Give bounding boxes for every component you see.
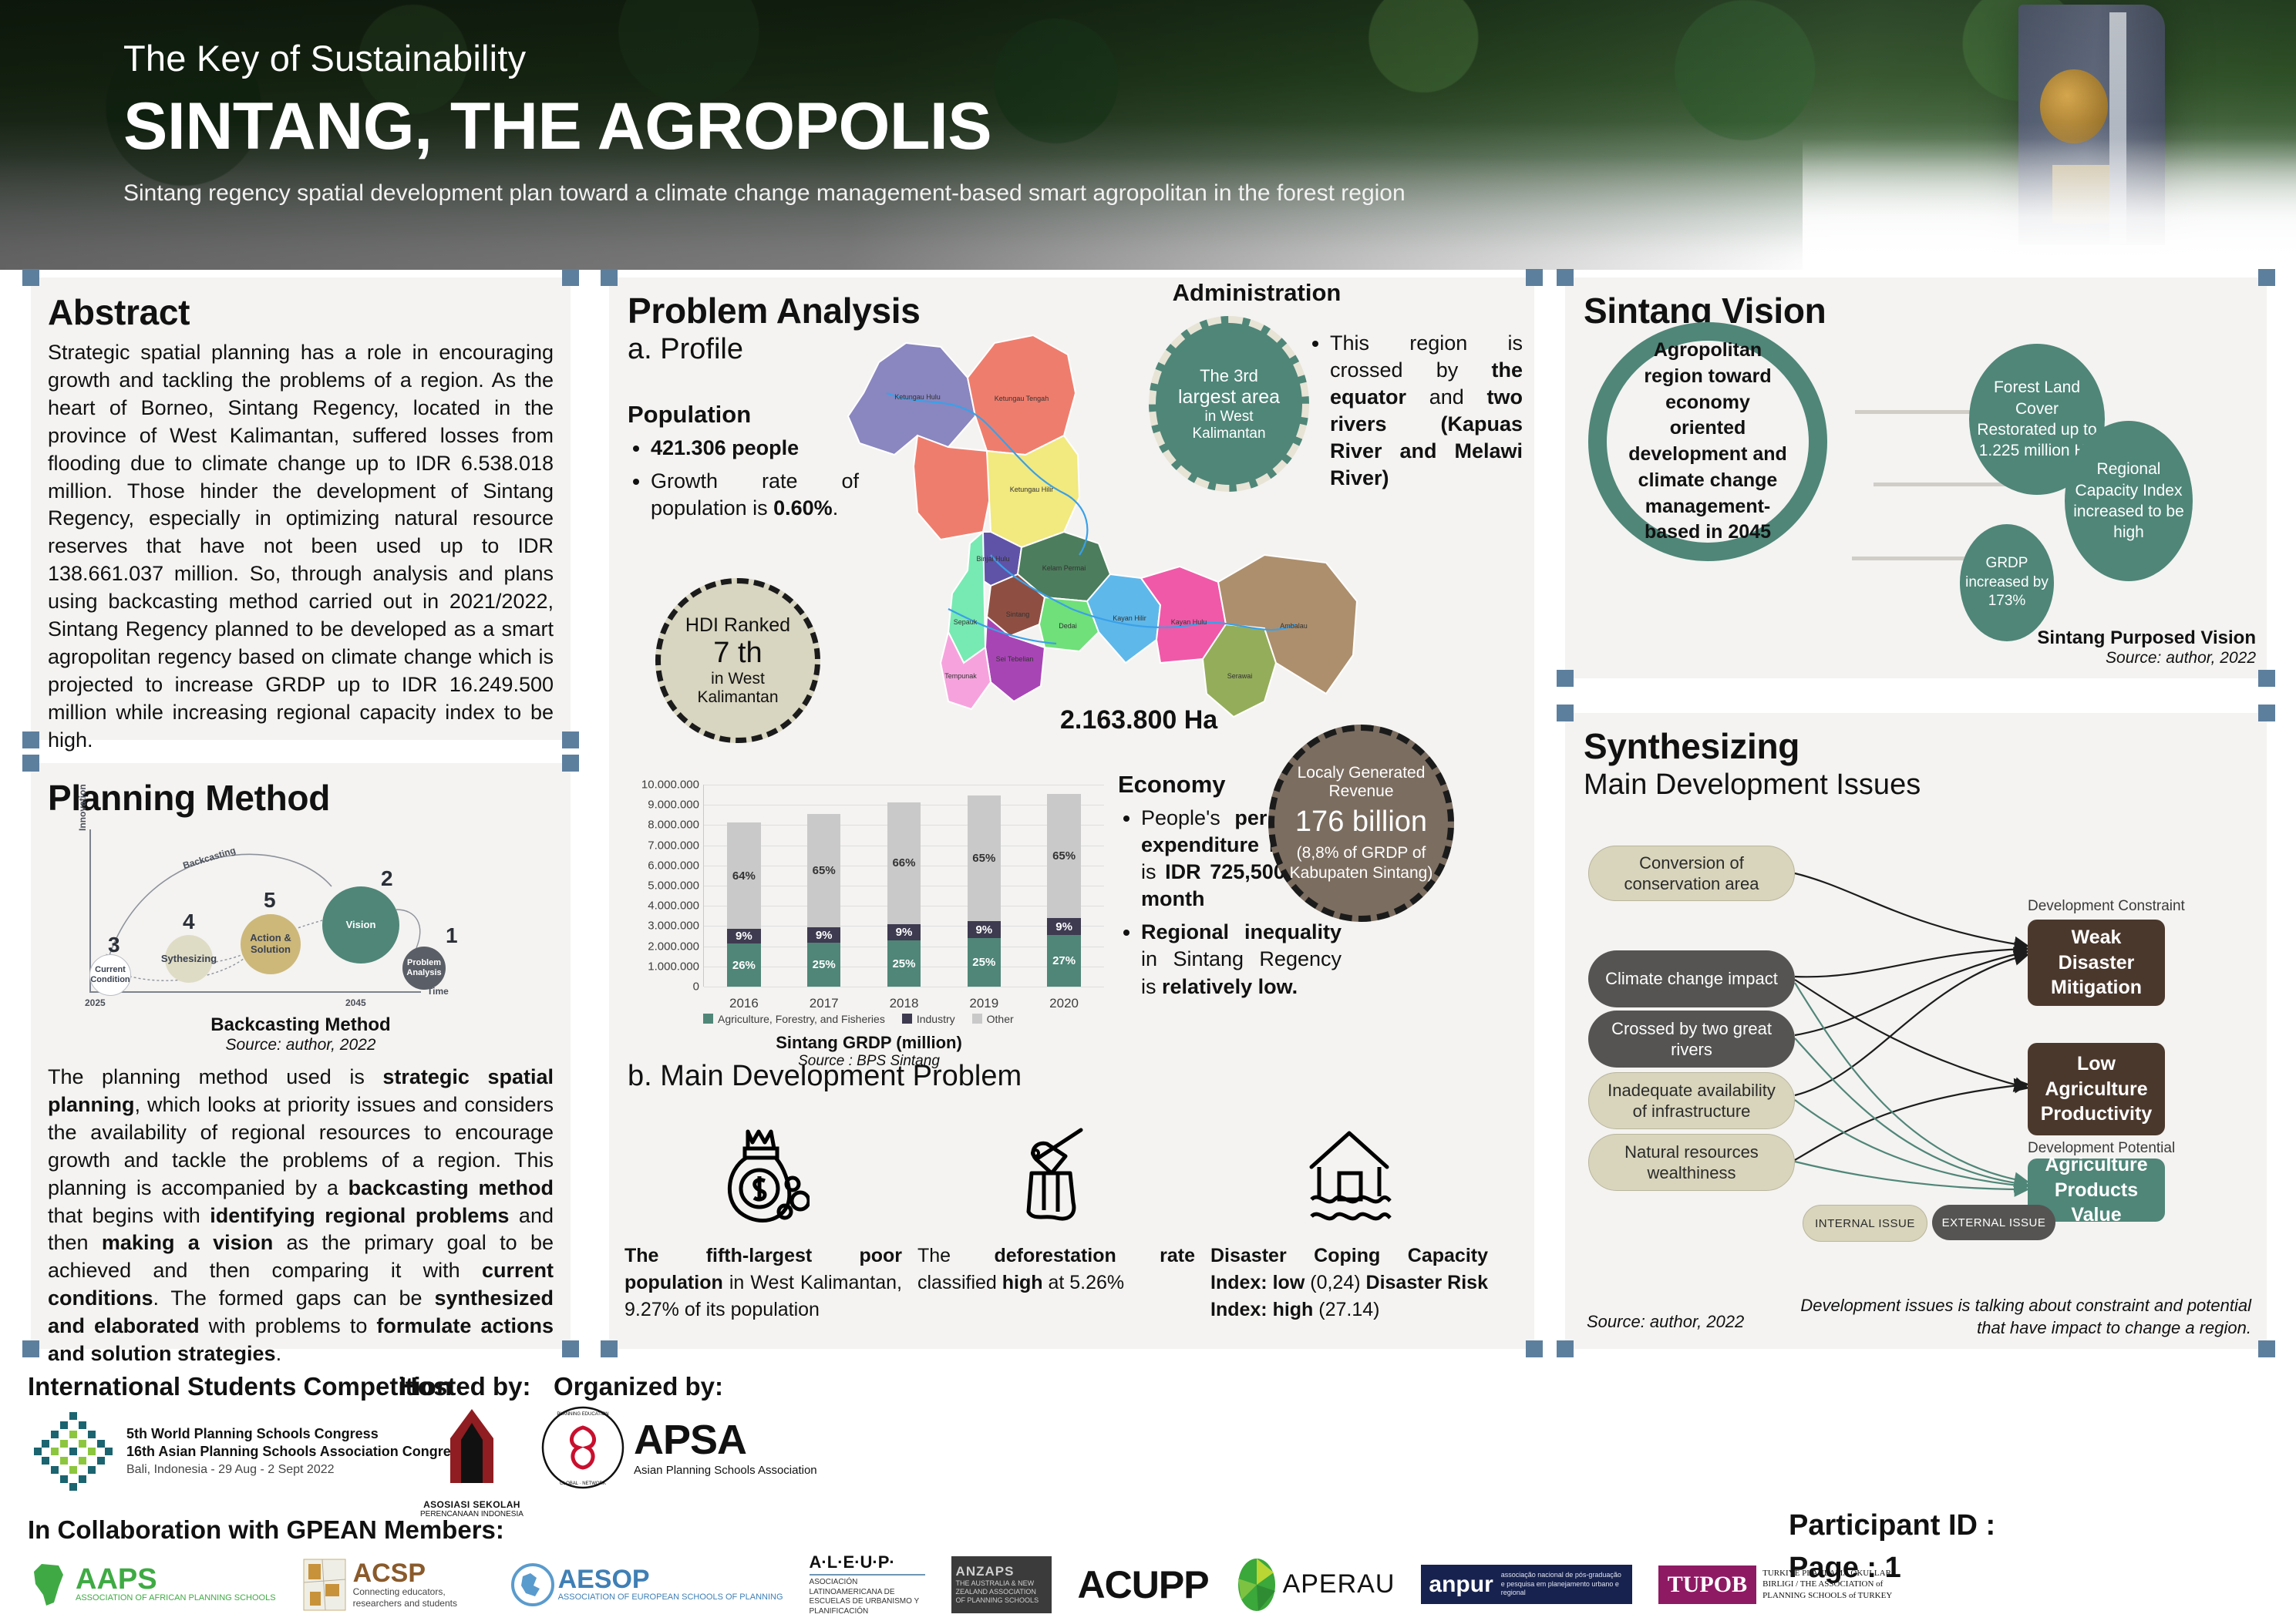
corner-marker [2258, 1340, 2275, 1357]
vision-bubble-capacity: Regional Capacity Index increased to be … [2065, 421, 2193, 581]
collaboration-heading: In Collaboration with GPEAN Members: [28, 1515, 504, 1545]
legend-label: Industry [917, 1013, 955, 1025]
planning-method-panel: Planning Method Innovation Time 2025 204… [31, 763, 571, 1349]
host-logo: ASOSIASI SEKOLAH PERENCANAAN INDONESIA [420, 1406, 524, 1518]
revenue-line3: (8,8% of GRDP of Kabupaten Sintang) [1274, 843, 1448, 882]
corner-marker [562, 731, 579, 748]
chart-bar-segment: 64% [727, 822, 761, 928]
population-heading: Population [628, 401, 859, 429]
chart-legend: Agriculture, Forestry, and FisheriesIndu… [703, 1013, 1014, 1025]
node-problem-analysis: Problem Analysis [402, 947, 446, 990]
apsa-logo: PLANNING EDUCATION GLOBAL · NETWORK APSA… [540, 1404, 817, 1491]
problem-text-poverty: The fifth-largest poor population in Wes… [624, 1243, 902, 1323]
chart-bar-group: 64%9%26% [727, 822, 761, 987]
planning-method-heading: Planning Method [48, 777, 554, 819]
chart-y-tick-label: 2.000.000 [648, 940, 699, 953]
issue-two-great-rivers: Crossed by two great rivers [1588, 1011, 1795, 1068]
logo-aperau: APERAU [1235, 1555, 1395, 1614]
map-area-label: 2.163.800 Ha [1060, 705, 1217, 735]
node-number-2: 2 [381, 866, 393, 891]
node-vision: Vision [322, 886, 399, 964]
aleup-full: ASOCIACIÓN LATINOAMERICANA DE ESCUELAS D… [810, 1578, 925, 1616]
svg-text:Ketungau Hilir: Ketungau Hilir [1010, 486, 1054, 493]
node-sythesizing: Sythesizing [165, 935, 213, 983]
europe-globe-icon [510, 1562, 555, 1607]
logo-acsp: ACSP Connecting educators, researchers a… [302, 1558, 484, 1612]
aaps-abbr: AAPS [76, 1566, 276, 1593]
corner-marker [22, 1340, 39, 1357]
logo-anzaps: ANZAPS THE AUSTRALIA & NEW ZEALAND ASSOC… [951, 1556, 1052, 1613]
chart-bar-group: 66%9%25% [887, 802, 921, 987]
constraint-low-agriculture-productivity: Low Agriculture Productivity [2028, 1043, 2165, 1135]
corner-marker [1557, 670, 1574, 687]
poster-header: The Key of Sustainability SINTANG, THE A… [0, 0, 2296, 270]
chart-x-tick-label: 2018 [864, 996, 944, 1011]
main-problem-row: The fifth-largest poor population in Wes… [624, 1102, 1496, 1323]
hdi-line3: in West [711, 670, 765, 688]
legend-swatch [972, 1014, 982, 1024]
backcasting-arc [54, 825, 547, 1017]
chart-title: Sintang GRDP (million) [703, 1033, 1035, 1053]
node-number-4: 4 [183, 910, 195, 934]
vision-bubble-grdp: GRDP increased by 173% [1960, 524, 2054, 641]
flooded-house-icon [1210, 1102, 1488, 1226]
chart-bar-segment: 9% [887, 924, 921, 941]
svg-text:Tempunak: Tempunak [944, 672, 977, 680]
vision-connector [1852, 557, 1971, 560]
logo-acupp: ACUPP [1078, 1562, 1209, 1607]
header-kicker: The Key of Sustainability [123, 37, 1406, 79]
chart-y-tick-label: 3.000.000 [648, 920, 699, 933]
chart-y-tick-label: 0 [693, 980, 699, 994]
chart-x-tick-label: 2019 [944, 996, 1024, 1011]
logo-aleup: A·L·E·U·P· ASOCIACIÓN LATINOAMERICANA DE… [810, 1552, 925, 1616]
node-action-solution: Action & Solution [241, 914, 301, 974]
anpur-abbr: anpur [1429, 1573, 1493, 1596]
hdi-rank-badge: HDI Ranked 7 th in West Kalimantan [655, 578, 820, 743]
chart-bar-segment: 9% [807, 927, 841, 943]
aleup-rule [810, 1574, 925, 1576]
tree-stump-axe-icon [917, 1102, 1195, 1226]
sintang-district-map: Ketungau Hulu Ketungau Tengah Ketungau H… [833, 301, 1372, 732]
chart-bar-segment: 25% [968, 938, 1002, 987]
corner-marker [22, 269, 39, 286]
wpsc-motif-icon [31, 1409, 116, 1494]
aperau-abbr: APERAU [1283, 1569, 1395, 1599]
chart-y-tick-label: 9.000.000 [648, 799, 699, 812]
chart-bar-segment: 26% [727, 943, 761, 987]
y-axis-label: Innovation [77, 784, 88, 831]
issue-climate-change: Climate change impact [1588, 950, 1795, 1007]
anpur-full: associação nacional de pós-graduação e p… [1501, 1571, 1624, 1598]
diagram-source: Source: author, 2022 [48, 1036, 554, 1054]
corner-marker [2258, 269, 2275, 286]
legend-label: Agriculture, Forestry, and Fisheries [718, 1013, 885, 1025]
backcasting-diagram: Innovation Time 2025 2045 Backcasting Cu… [54, 825, 547, 1017]
issue-natural-resources: Natural resources wealthiness [1588, 1134, 1795, 1191]
chart-bar-segment: 65% [968, 795, 1002, 921]
apsa-abbr: APSA [634, 1419, 817, 1461]
issue-conversion-conservation: Conversion of conservation area [1588, 846, 1795, 901]
synthesizing-note: Development issues is talking about cons… [1773, 1294, 2251, 1340]
chart-gridline [704, 987, 1104, 987]
corner-marker [601, 1340, 618, 1357]
issue-inadequate-infrastructure: Inadequate availability of infrastructur… [1588, 1072, 1795, 1129]
svg-text:GLOBAL · NETWORK: GLOBAL · NETWORK [560, 1481, 606, 1486]
svg-text:Ambalau: Ambalau [1280, 622, 1308, 630]
corner-marker [1557, 269, 1574, 286]
grdp-stacked-bar-chart: 01.000.0002.000.0003.000.0004.000.0005.0… [617, 779, 1110, 1064]
congress-line1: 5th World Planning Schools Congress [126, 1425, 466, 1443]
vision-core-circle: Agropolitan region toward economy orient… [1588, 322, 1827, 561]
chart-x-tick-label: 2020 [1024, 996, 1104, 1011]
list-item: Growth rate of population is 0.60%. [651, 468, 859, 522]
svg-text:Dedai: Dedai [1059, 622, 1077, 630]
poster-subtitle: Sintang regency spatial development plan… [123, 180, 1406, 207]
chart-x-tick-label: 2016 [704, 996, 784, 1011]
list-item: 421.306 people [651, 435, 859, 462]
vision-connector [1855, 410, 1982, 414]
chart-bar-segment: 25% [887, 940, 921, 987]
corner-marker [1526, 1340, 1543, 1357]
chart-bar-segment: 9% [1047, 918, 1081, 935]
problem-card-poverty: The fifth-largest poor population in Wes… [624, 1102, 902, 1323]
legend-external-issue: EXTERNAL ISSUE [1932, 1205, 2055, 1240]
acsp-block-icon [302, 1558, 347, 1612]
header-text-block: The Key of Sustainability SINTANG, THE A… [123, 37, 1406, 207]
chart-y-tick-label: 5.000.000 [648, 879, 699, 893]
organized-by-label: Organized by: [554, 1372, 723, 1401]
corner-marker [22, 731, 39, 748]
aesop-abbr: AESOP [558, 1566, 783, 1592]
congress-line3: Bali, Indonesia - 29 Aug - 2 Sept 2022 [126, 1462, 466, 1478]
chart-legend-item: Agriculture, Forestry, and Fisheries [703, 1013, 885, 1025]
corner-marker [1526, 269, 1543, 286]
synthesizing-heading: Synthesizing [1584, 725, 2248, 767]
money-bag-icon [624, 1102, 902, 1226]
abstract-heading: Abstract [48, 291, 554, 333]
svg-text:Ketungau Tengah: Ketungau Tengah [995, 395, 1049, 402]
main-development-problem-subheading: b. Main Development Problem [628, 1060, 1022, 1093]
abstract-panel: Abstract Strategic spatial planning has … [31, 277, 571, 740]
hdi-line2: 7 th [713, 637, 762, 670]
problem-text-disaster: Disaster Coping Capacity Index: low (0,2… [1210, 1243, 1488, 1323]
svg-text:Sei Tebelian: Sei Tebelian [996, 655, 1034, 663]
chart-y-tick-label: 4.000.000 [648, 900, 699, 913]
population-block: Population 421.306 people Growth rate of… [628, 401, 859, 528]
legend-swatch [902, 1014, 912, 1024]
revenue-line1: Localy Generated Revenue [1274, 764, 1448, 801]
chart-plot-area: 01.000.0002.000.0003.000.0004.000.0005.0… [703, 785, 1104, 987]
competition-heading: International Students Competition [28, 1372, 452, 1401]
problem-card-deforestation: The deforestation rate classified high a… [917, 1102, 1195, 1323]
vision-caption: Sintang Purposed Vision [2037, 627, 2256, 649]
svg-text:Sintang: Sintang [1006, 610, 1030, 618]
svg-text:Kelam Permai: Kelam Permai [1042, 564, 1086, 572]
problem-text-deforestation: The deforestation rate classified high a… [917, 1243, 1195, 1296]
chart-bar-segment: 65% [807, 814, 841, 927]
corner-marker [562, 1340, 579, 1357]
corner-marker [2258, 670, 2275, 687]
map-svg: Ketungau Hulu Ketungau Tengah Ketungau H… [833, 301, 1372, 732]
legend-swatch [703, 1014, 713, 1024]
chart-x-tick-label: 2017 [784, 996, 864, 1011]
aesop-full: ASSOCIATION OF EUROPEAN SCHOOLS OF PLANN… [558, 1592, 783, 1603]
apsa-full: Asian Planning Schools Association [634, 1464, 817, 1477]
svg-text:Serawai: Serawai [1227, 672, 1253, 680]
poster-footer: International Students Competition Hoste… [0, 1364, 2296, 1621]
synthesizing-subheading: Main Development Issues [1584, 768, 2248, 802]
list-item: Regional inequality in Sintang Regency i… [1141, 919, 1342, 1000]
chart-bar-group: 65%9%25% [968, 795, 1002, 987]
gpean-ring-icon: PLANNING EDUCATION GLOBAL · NETWORK [540, 1404, 626, 1491]
svg-text:Kayan Hilir: Kayan Hilir [1113, 614, 1146, 622]
tupob-abbr: TUPOB [1668, 1572, 1747, 1597]
chart-y-tick-label: 7.000.000 [648, 839, 699, 852]
chart-bar-group: 65%9%27% [1047, 794, 1081, 987]
chart-y-tick-label: 1.000.000 [648, 960, 699, 973]
congress-text: 5th World Planning Schools Congress 16th… [126, 1425, 466, 1478]
planning-method-text: The planning method used is strategic sp… [48, 1064, 554, 1368]
acsp-abbr: ACSP [353, 1560, 484, 1586]
chart-bar-segment: 66% [887, 802, 921, 924]
anzaps-full: THE AUSTRALIA & NEW ZEALAND ASSOCIATION … [956, 1579, 1047, 1604]
population-bullets: 421.306 people Growth rate of population… [628, 435, 859, 522]
congress-line2: 16th Asian Planning Schools Association … [126, 1443, 466, 1461]
chart-y-tick-label: 8.000.000 [648, 819, 699, 832]
acsp-full: Connecting educators, researchers and st… [353, 1586, 484, 1609]
synthesizing-source: Source: author, 2022 [1587, 1312, 1744, 1332]
synthesizing-panel: Synthesizing Main Development Issues [1565, 713, 2267, 1349]
logo-aesop: AESOP ASSOCIATION OF EUROPEAN SCHOOLS OF… [510, 1562, 783, 1607]
chart-bar-segment: 9% [727, 929, 761, 943]
corner-marker [601, 269, 618, 286]
header-bottom-fade [1803, 139, 2296, 270]
aleup-abbr: A·L·E·U·P· [810, 1552, 925, 1572]
chart-legend-item: Other [972, 1013, 1014, 1025]
chart-gridline [704, 785, 1104, 785]
hosted-by-label: Hosted by: [399, 1372, 531, 1401]
development-constraint-label: Development Constraint [2028, 898, 2185, 915]
corner-marker [1557, 705, 1574, 721]
node-number-3: 3 [108, 933, 120, 957]
africa-map-icon [28, 1561, 72, 1609]
anzaps-abbr: ANZAPS [956, 1564, 1047, 1579]
chart-bar-segment: 65% [1047, 794, 1081, 918]
participant-block: Participant ID : Page : 1 [1789, 1505, 1995, 1589]
hdi-line4: Kalimantan [697, 688, 778, 707]
revenue-line2: 176 billion [1295, 805, 1427, 839]
participant-id-label: Participant ID : [1789, 1505, 1995, 1547]
chart-y-tick-label: 10.000.000 [641, 779, 699, 792]
wpsc-logo: 5th World Planning Schools Congress 16th… [31, 1409, 466, 1494]
node-number-1: 1 [446, 923, 458, 948]
chart-bar-group: 65%9%25% [807, 814, 841, 987]
corner-marker [562, 269, 579, 286]
chart-bar-segment: 25% [807, 943, 841, 987]
logo-anpur: anpur associação nacional de pós-graduaç… [1421, 1565, 1631, 1604]
hdi-line1: HDI Ranked [685, 614, 790, 637]
corner-marker [22, 755, 39, 772]
diagram-caption: Backcasting Method [48, 1014, 554, 1036]
corner-marker [2258, 705, 2275, 721]
chart-bar-segment: 27% [1047, 935, 1081, 987]
page-number: Page : 1 [1789, 1547, 1995, 1589]
acupp-abbr: ACUPP [1078, 1562, 1209, 1607]
gpean-member-logos: AAPS ASSOCIATION OF AFRICAN PLANNING SCH… [28, 1552, 1924, 1616]
svg-text:Binjai Hulu: Binjai Hulu [976, 555, 1009, 563]
node-number-5: 5 [264, 888, 276, 913]
locally-generated-revenue-badge: Localy Generated Revenue 176 billion (8,… [1268, 725, 1454, 922]
sintang-vision-panel: Sintang Vision Agropolitan region toward… [1565, 277, 2267, 678]
problem-card-disaster: Disaster Coping Capacity Index: low (0,2… [1210, 1102, 1488, 1323]
asosiasi-sekolah-perencanaan-icon [435, 1406, 509, 1495]
corner-marker [1557, 1340, 1574, 1357]
constraint-weak-disaster-mitigation: Weak Disaster Mitigation [2028, 920, 2165, 1006]
logo-aaps: AAPS ASSOCIATION OF AFRICAN PLANNING SCH… [28, 1561, 276, 1609]
chart-bar-segment: 9% [968, 921, 1002, 939]
vision-caption-block: Sintang Purposed Vision Source: author, … [2037, 627, 2256, 668]
chart-y-tick-label: 6.000.000 [648, 859, 699, 872]
aperau-leaf-icon [1235, 1555, 1278, 1614]
corner-marker [562, 755, 579, 772]
development-issues-diagram: Conversion of conservation area Climate … [1581, 829, 2259, 1260]
svg-text:Sepauk: Sepauk [954, 618, 978, 626]
svg-text:Ketungau Hulu: Ketungau Hulu [894, 393, 941, 401]
aaps-full: ASSOCIATION OF AFRICAN PLANNING SCHOOLS [76, 1593, 276, 1603]
vision-source: Source: author, 2022 [2037, 649, 2256, 668]
poster-title: SINTANG, THE AGROPOLIS [123, 89, 1406, 165]
abstract-text: Strategic spatial planning has a role in… [48, 339, 554, 755]
chart-legend-item: Industry [902, 1013, 955, 1025]
svg-text:PLANNING EDUCATION: PLANNING EDUCATION [557, 1412, 608, 1417]
problem-analysis-panel: Problem Analysis a. Profile Population 4… [609, 277, 1534, 1349]
svg-text:Kayan Hulu: Kayan Hulu [1171, 618, 1207, 626]
host-logo-line1: ASOSIASI SEKOLAH [420, 1499, 524, 1510]
node-current-condition: Current Condition [89, 954, 131, 996]
legend-internal-issue: INTERNAL ISSUE [1803, 1205, 1927, 1242]
legend-label: Other [987, 1013, 1014, 1025]
